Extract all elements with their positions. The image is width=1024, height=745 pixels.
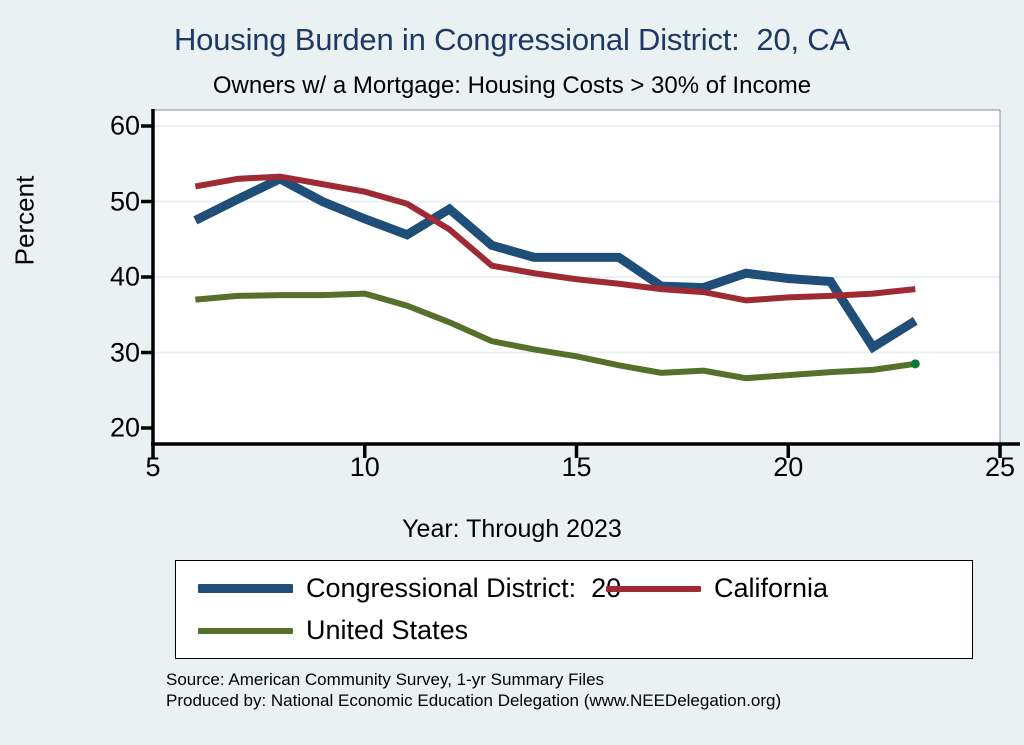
series-endpoint-united-states (911, 359, 920, 368)
legend-swatch-0 (198, 584, 293, 593)
legend-label-0: Congressional District: 20 (306, 573, 621, 604)
legend-entry-0[interactable]: Congressional District: 20 (198, 573, 621, 604)
footer-line-2: Produced by: National Economic Education… (166, 691, 781, 710)
legend-swatch-1 (606, 586, 701, 592)
legend-entry-2[interactable]: United States (198, 615, 468, 646)
legend: Congressional District: 20CaliforniaUnit… (175, 560, 973, 659)
legend-swatch-2 (198, 628, 293, 634)
legend-entry-1[interactable]: California (606, 573, 828, 604)
footer-line-1: Source: American Community Survey, 1-yr … (166, 670, 604, 689)
footer-source: Source: American Community Survey, 1-yr … (166, 669, 781, 711)
legend-label-1: California (714, 573, 828, 604)
legend-label-2: United States (306, 615, 468, 646)
chart-container: Housing Burden in Congressional District… (0, 0, 1024, 745)
